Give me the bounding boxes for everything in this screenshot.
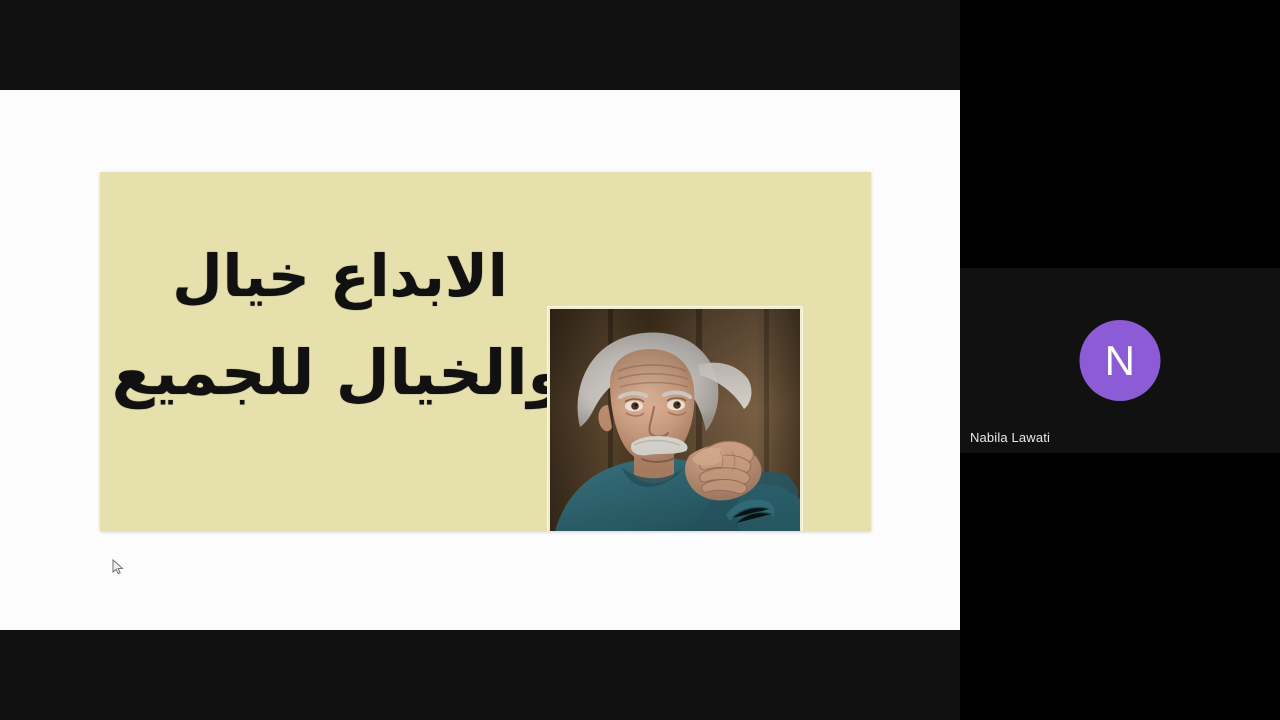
presentation-slide[interactable]: الابداع خيال والخيال للجميع xyxy=(100,172,871,531)
participant-name-label: Nabila Lawati xyxy=(970,430,1050,445)
letterbox-bottom xyxy=(0,630,960,720)
slide-text-line-1: الابداع خيال xyxy=(114,232,566,320)
participant-tile-nabila-lawati[interactable]: N Nabila Lawati xyxy=(960,268,1280,453)
einstein-portrait-image xyxy=(550,309,800,531)
avatar-initial: N xyxy=(1105,340,1136,382)
slide-arabic-text: الابداع خيال والخيال للجميع xyxy=(114,232,566,420)
screen-share-stage[interactable]: الابداع خيال والخيال للجميع xyxy=(0,0,960,720)
mouse-cursor-arrow-icon xyxy=(112,559,124,575)
avatar: N xyxy=(1080,320,1161,401)
slide-photo-frame xyxy=(547,306,803,531)
einstein-portrait-svg xyxy=(550,309,800,531)
shared-screen-surface[interactable]: الابداع خيال والخيال للجميع xyxy=(0,90,960,630)
participant-tile-empty-lower[interactable] xyxy=(960,453,1280,720)
participant-tile-empty[interactable] xyxy=(960,0,1280,268)
meeting-screen: الابداع خيال والخيال للجميع xyxy=(0,0,1280,720)
slide-text-line-2: والخيال للجميع xyxy=(114,326,566,420)
participant-rail: N Nabila Lawati xyxy=(960,0,1280,720)
letterbox-top xyxy=(0,0,960,90)
